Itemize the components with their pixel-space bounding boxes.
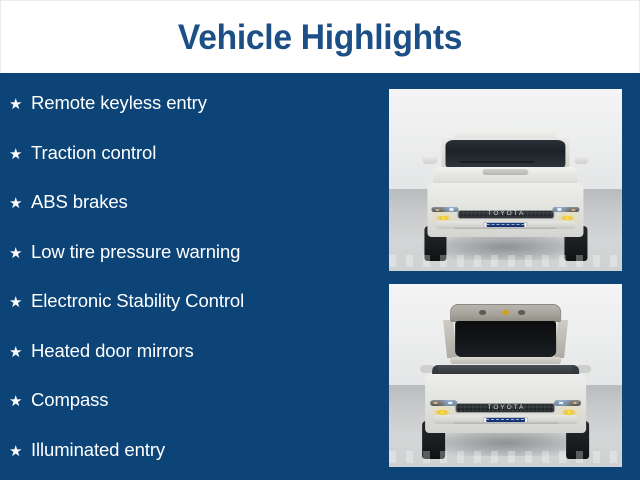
star-icon: ★ bbox=[9, 97, 31, 112]
list-item: ★ Compass bbox=[0, 391, 380, 441]
headlight-right bbox=[554, 400, 581, 406]
engine-bay-cavity bbox=[455, 321, 556, 357]
open-hood bbox=[445, 304, 566, 365]
brand-wordmark: TOYOTA bbox=[486, 405, 525, 412]
vehicle-highlights-slide: Vehicle Highlights ★ Remote keyless entr… bbox=[0, 0, 640, 480]
photo-watermark bbox=[389, 451, 622, 464]
headlight-amber-right bbox=[570, 209, 576, 211]
star-icon: ★ bbox=[9, 444, 31, 459]
photo-canvas: TOYOTA bbox=[389, 284, 622, 467]
front-grille: TOYOTA bbox=[457, 210, 554, 219]
feature-label: Traction control bbox=[31, 144, 156, 163]
page-title: Vehicle Highlights bbox=[178, 20, 462, 55]
hood-clip-right bbox=[519, 310, 526, 314]
side-mirror-right bbox=[574, 155, 589, 164]
feature-label: ABS brakes bbox=[31, 193, 128, 212]
side-mirror-left bbox=[422, 155, 437, 164]
vehicle-photo-engine[interactable]: TOYOTA bbox=[389, 284, 622, 467]
headlight-amber-left bbox=[435, 209, 441, 211]
hood-clip-left bbox=[479, 310, 486, 314]
hood-lip bbox=[450, 357, 561, 364]
list-item: ★ ABS brakes bbox=[0, 193, 380, 243]
list-item: ★ Remote keyless entry bbox=[0, 94, 380, 144]
license-plate-subtext bbox=[491, 421, 521, 422]
star-icon: ★ bbox=[9, 196, 31, 211]
brand-wordmark: TOYOTA bbox=[486, 211, 525, 218]
headlight-led-left bbox=[447, 208, 455, 211]
star-icon: ★ bbox=[9, 394, 31, 409]
windshield bbox=[445, 138, 566, 168]
license-plate bbox=[484, 222, 528, 228]
hood-clip-center bbox=[502, 310, 509, 314]
star-icon: ★ bbox=[9, 345, 31, 360]
feature-label: Electronic Stability Control bbox=[31, 292, 244, 311]
slide-body: ★ Remote keyless entry ★ Traction contro… bbox=[0, 73, 640, 480]
photo-canvas: TOYOTA bbox=[389, 89, 622, 271]
license-plate-subtext bbox=[491, 226, 520, 227]
star-icon: ★ bbox=[9, 246, 31, 261]
headlight-led-left bbox=[446, 402, 454, 405]
license-plate bbox=[483, 417, 528, 423]
vehicle-photo-front[interactable]: TOYOTA bbox=[389, 89, 622, 271]
headlight-left bbox=[432, 207, 459, 212]
feature-label: Remote keyless entry bbox=[31, 94, 207, 113]
list-item: ★ Traction control bbox=[0, 144, 380, 194]
slide-header: Vehicle Highlights bbox=[0, 0, 640, 73]
feature-label: Compass bbox=[31, 391, 108, 410]
hood-edge-right bbox=[554, 320, 568, 358]
headlight-left bbox=[430, 400, 457, 406]
headlight-led-right bbox=[556, 208, 564, 211]
feature-label: Heated door mirrors bbox=[31, 342, 194, 361]
license-plate-dealer-frame bbox=[486, 418, 525, 422]
headlight-amber-left bbox=[433, 402, 440, 404]
list-item: ★ Low tire pressure warning bbox=[0, 243, 380, 293]
front-fascia: TOYOTA bbox=[427, 183, 584, 237]
feature-label: Illuminated entry bbox=[31, 441, 165, 460]
feature-label: Low tire pressure warning bbox=[31, 243, 240, 262]
headlight-led-right bbox=[557, 402, 565, 405]
license-plate-dealer-frame bbox=[487, 223, 525, 226]
hood-scoop bbox=[483, 169, 529, 175]
vehicle-features-list: ★ Remote keyless entry ★ Traction contro… bbox=[0, 73, 380, 480]
star-icon: ★ bbox=[9, 295, 31, 310]
list-item: ★ Electronic Stability Control bbox=[0, 292, 380, 342]
photo-watermark bbox=[389, 255, 622, 268]
front-fascia: TOYOTA bbox=[425, 374, 586, 433]
hood-underside-panel bbox=[450, 304, 561, 322]
star-icon: ★ bbox=[9, 147, 31, 162]
front-grille: TOYOTA bbox=[456, 403, 556, 413]
headlight-amber-right bbox=[572, 402, 579, 404]
list-item: ★ Heated door mirrors bbox=[0, 342, 380, 392]
suv-front-body-hood-open: TOYOTA bbox=[422, 310, 590, 456]
suv-front-body: TOYOTA bbox=[424, 124, 587, 259]
headlight-right bbox=[553, 207, 580, 212]
windshield-wiper bbox=[460, 161, 535, 163]
list-item: ★ Illuminated entry bbox=[0, 441, 380, 480]
